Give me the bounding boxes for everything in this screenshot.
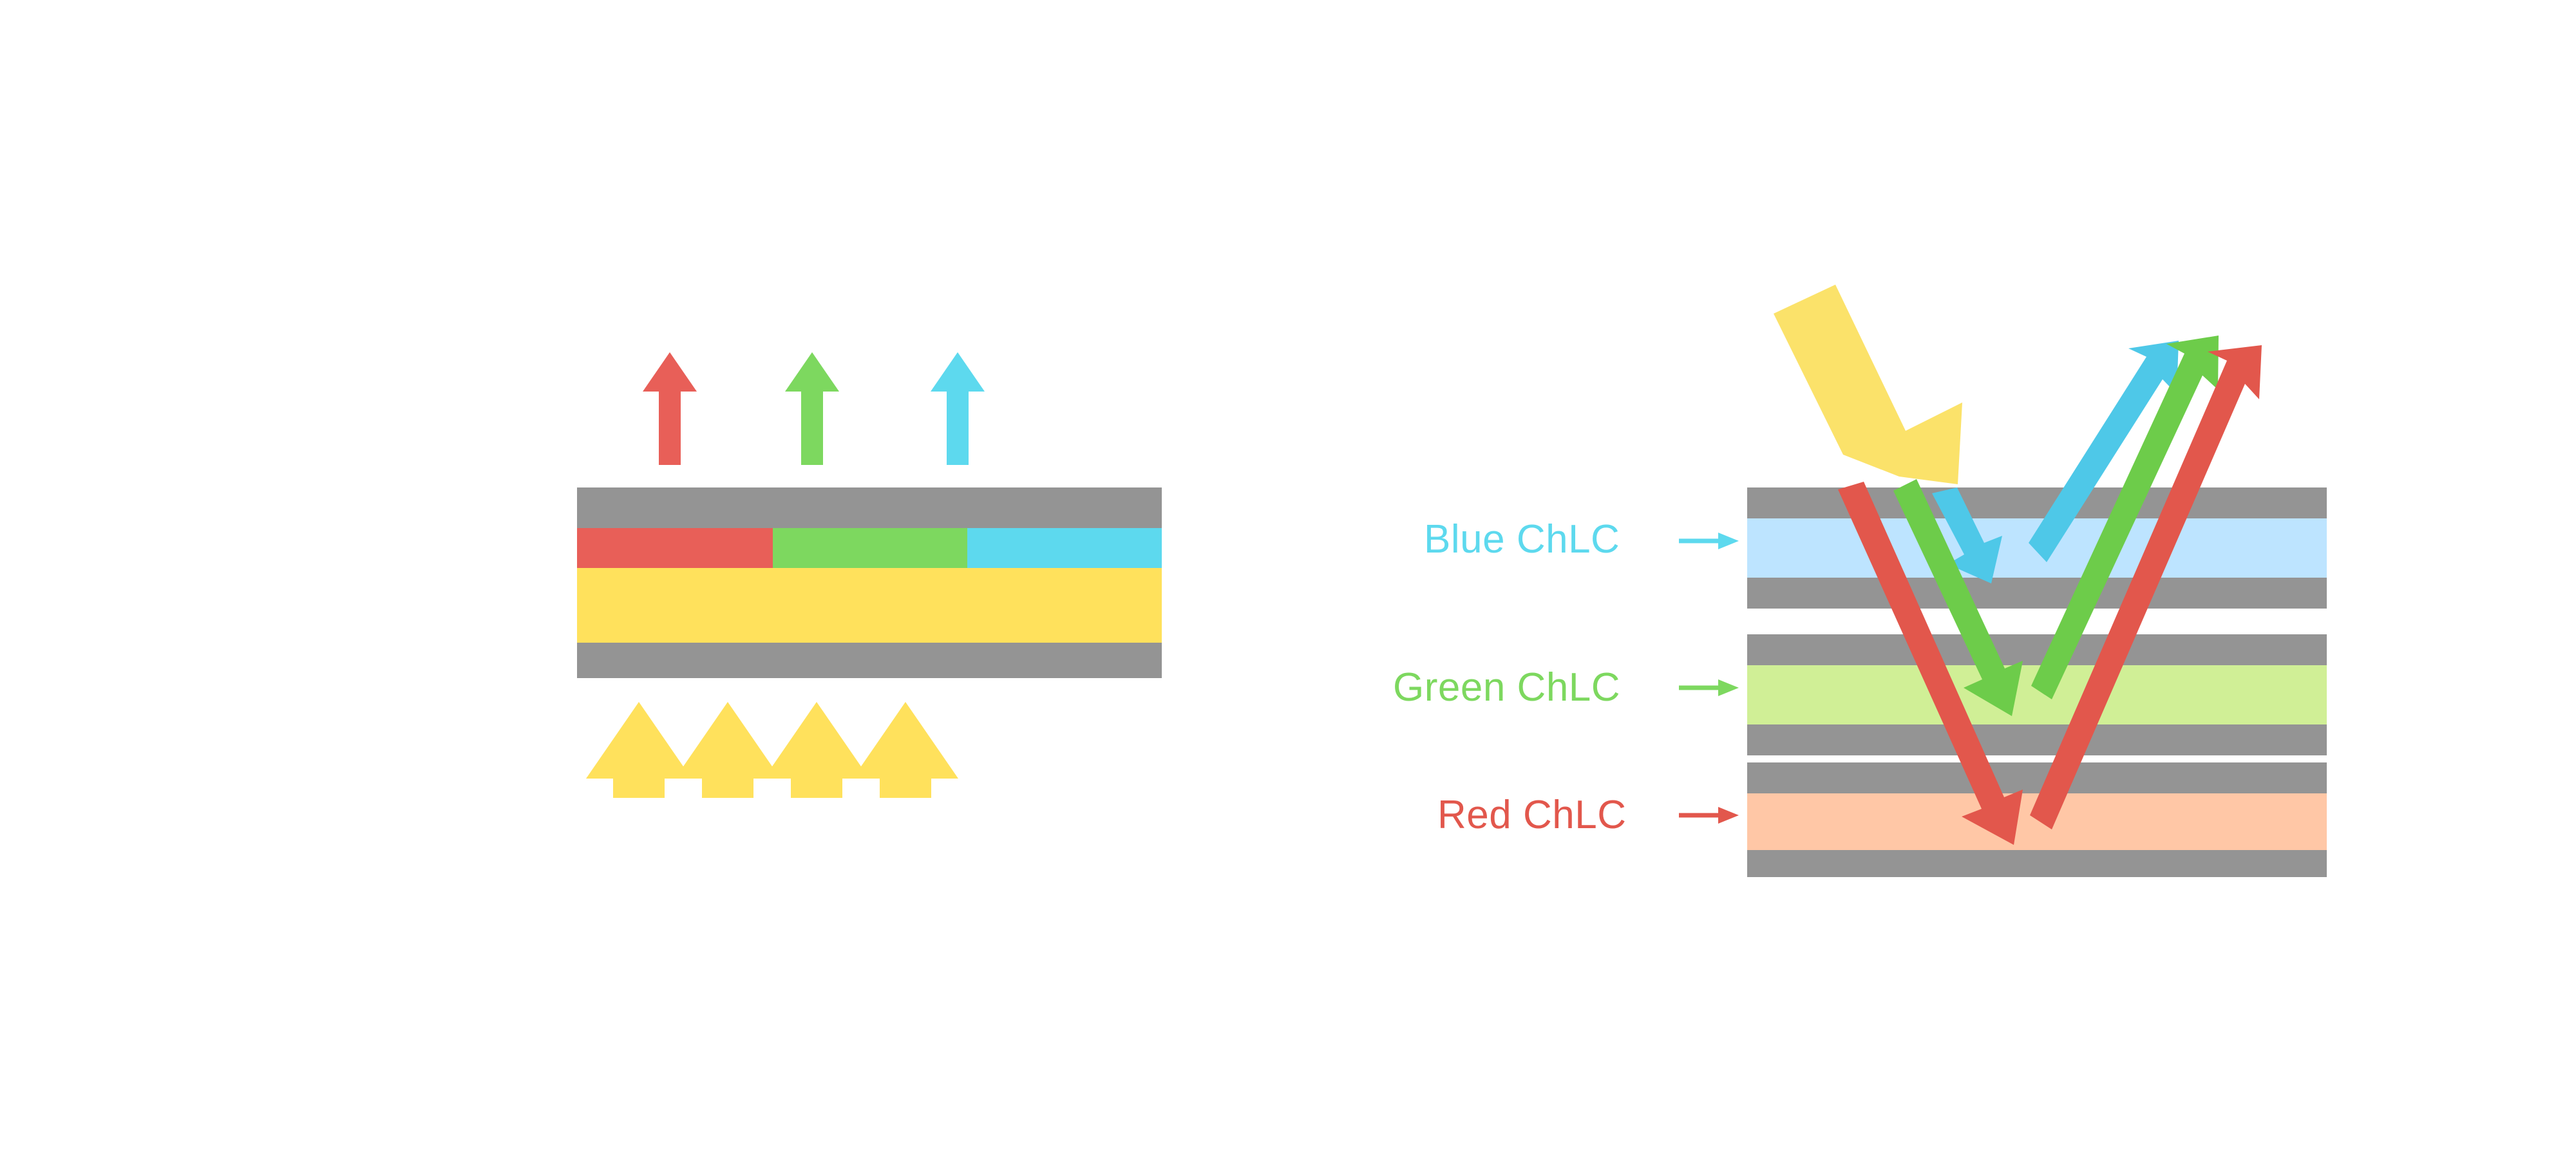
left-stack bbox=[577, 487, 1162, 678]
cell-red-bottom-electrode bbox=[1747, 850, 2327, 877]
label-blue-chlc: Blue ChLC bbox=[1424, 517, 1739, 562]
cell-green-top-electrode bbox=[1747, 634, 2327, 665]
label-green-chlc-text: Green ChLC bbox=[1393, 665, 1620, 710]
cell-green-bottom-electrode bbox=[1747, 724, 2327, 755]
cell-green bbox=[1747, 634, 2327, 755]
left-filter-green bbox=[773, 528, 967, 568]
left-bottom-electrode bbox=[577, 643, 1162, 678]
figure-root: Blue ChLC Green ChLC Red ChLC bbox=[0, 0, 2576, 1154]
label-blue-chlc-arrow-icon bbox=[1679, 533, 1739, 549]
ambient-light-arrow bbox=[1774, 285, 1962, 484]
emitted-blue-arrow bbox=[931, 352, 985, 465]
right-panel: Blue ChLC Green ChLC Red ChLC bbox=[1393, 285, 2327, 877]
left-backlight-arrows bbox=[586, 702, 958, 798]
cell-blue-top-electrode bbox=[1747, 487, 2327, 518]
emitted-green-arrow bbox=[785, 352, 839, 465]
left-top-arrows bbox=[643, 352, 985, 465]
left-backlight-layer bbox=[577, 568, 1162, 643]
backlight-arrow-2 bbox=[675, 702, 781, 798]
label-blue-chlc-text: Blue ChLC bbox=[1424, 517, 1620, 562]
cell-red-top-electrode bbox=[1747, 762, 2327, 793]
diagram-canvas: Blue ChLC Green ChLC Red ChLC bbox=[0, 0, 2576, 1154]
label-red-chlc: Red ChLC bbox=[1437, 793, 1739, 837]
label-green-chlc-arrow-icon bbox=[1679, 679, 1739, 696]
emitted-red-arrow bbox=[643, 352, 697, 465]
backlight-arrow-3 bbox=[764, 702, 869, 798]
left-filter-blue bbox=[967, 528, 1162, 568]
label-red-chlc-text: Red ChLC bbox=[1437, 793, 1626, 837]
label-red-chlc-arrow-icon bbox=[1679, 807, 1739, 824]
left-panel bbox=[577, 352, 1162, 798]
backlight-arrow-4 bbox=[853, 702, 958, 798]
backlight-arrow-1 bbox=[586, 702, 692, 798]
cell-blue-bottom-electrode bbox=[1747, 578, 2327, 609]
left-filter-red bbox=[577, 528, 773, 568]
label-green-chlc: Green ChLC bbox=[1393, 665, 1739, 710]
left-top-electrode bbox=[577, 487, 1162, 528]
